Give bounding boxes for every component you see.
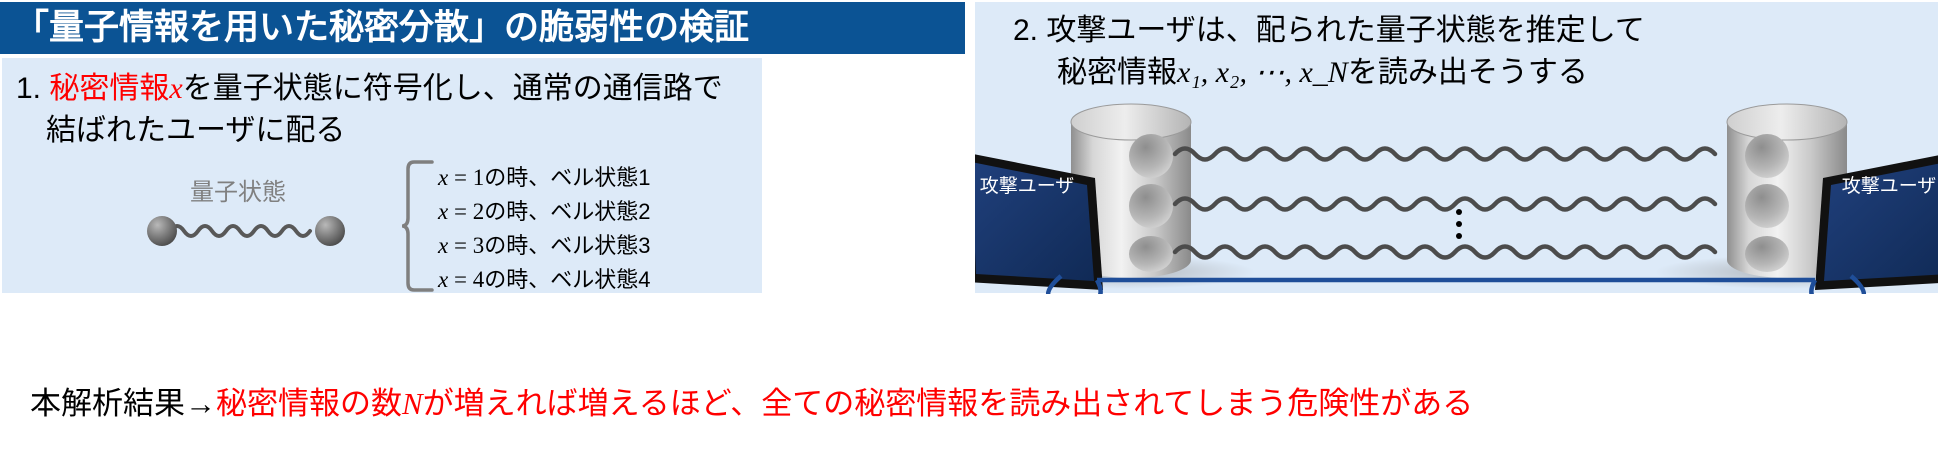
conclusion-highlight: 秘密情報の数 — [216, 386, 402, 421]
quantum-channel-1 — [1175, 149, 1715, 160]
conclusion-line: 本解析結果→秘密情報の数Nが増えれば増えるほど、全ての秘密情報を読み出されてしま… — [30, 378, 1473, 423]
monitor-right-label: 攻撃ユーザ — [1842, 175, 1937, 197]
conclusion-prefix: 本解析結果→ — [30, 386, 216, 421]
step2-line2-suffix: を読み出そうする — [1348, 56, 1588, 89]
port-left-3 — [1129, 236, 1173, 272]
bell-case-1-rhs: ベル状態1 — [550, 165, 650, 190]
quantum-state-label: 量子状態 — [190, 172, 286, 207]
step2-line1-text: 攻撃ユーザは、配られた量子状態を推定して — [1046, 14, 1645, 47]
bell-case-1-mid: の時、 — [484, 165, 550, 190]
step1-variable: x — [169, 72, 182, 105]
step2-line2-vars: x₁, x₂, ⋯, x_N — [1177, 56, 1348, 89]
bell-case-2-rhs: ベル状態2 — [550, 199, 650, 224]
slide-root: 「量子情報を用いた秘密分散」の脆弱性の検証 1. 秘密情報xを量子状態に符号化し… — [0, 0, 1940, 451]
port-left-2 — [1129, 184, 1173, 228]
bell-case-4-rhs: ベル状態4 — [550, 267, 650, 292]
bell-case-1: x = 1の時、ベル状態1 — [438, 160, 650, 192]
quantum-channel-3 — [1175, 247, 1715, 258]
bell-state-case-list: x = 1の時、ベル状態1 x = 2の時、ベル状態2 x = 3の時、ベル状態… — [402, 158, 752, 294]
bell-case-1-value: 1 — [473, 165, 485, 190]
port-left-1 — [1129, 134, 1173, 178]
step1-highlight: 秘密情報 — [49, 72, 169, 105]
bell-case-3-rhs: ベル状態3 — [550, 233, 650, 258]
bell-case-2-eq: = — [454, 199, 467, 224]
bell-case-3-lhs: x — [438, 233, 448, 258]
step1-panel: 1. 秘密情報xを量子状態に符号化し、通常の通信路で 結ばれたユーザに配る 量子… — [2, 58, 762, 293]
bell-case-1-eq: = — [454, 165, 467, 190]
entangled-pair-diagram — [142, 206, 352, 252]
conclusion-rest: が増えれば増えるほど、全ての秘密情報を読み出されてしまう危険性がある — [423, 386, 1474, 421]
vertical-ellipsis-icon — [1456, 209, 1462, 239]
monitor-left-label: 攻撃ユーザ — [980, 175, 1075, 197]
step1-line2: 結ばれたユーザに配る — [46, 110, 345, 152]
bell-case-2-lhs: x — [438, 199, 448, 224]
wave-line — [170, 226, 310, 236]
step1-number: 1. — [16, 72, 41, 105]
bell-case-2: x = 2の時、ベル状態2 — [438, 194, 650, 226]
bell-case-4: x = 4の時、ベル状態4 — [438, 262, 650, 294]
port-right-2 — [1745, 184, 1789, 228]
step2-number: 2. — [1013, 14, 1038, 47]
step2-line2: 秘密情報x₁, x₂, ⋯, x_Nを読み出そうする — [1057, 52, 1588, 94]
quantum-channel-group — [1175, 149, 1715, 258]
qubit-ball-right — [315, 216, 345, 246]
slide-title-bar: 「量子情報を用いた秘密分散」の脆弱性の検証 — [0, 2, 965, 54]
step1-line1-rest: を量子状態に符号化し、通常の通信路で — [183, 72, 723, 105]
bell-case-4-eq: = — [454, 267, 467, 292]
bell-case-3-mid: の時、 — [484, 233, 550, 258]
page-title: 「量子情報を用いた秘密分散」の脆弱性の検証 — [0, 2, 749, 54]
step2-panel: 2. 攻撃ユーザは、配られた量子状態を推定して 秘密情報x₁, x₂, ⋯, x… — [975, 2, 1938, 293]
bell-case-2-mid: の時、 — [484, 199, 550, 224]
bell-case-2-value: 2 — [473, 199, 485, 224]
bell-case-3-eq: = — [454, 233, 467, 258]
attack-network-diagram: 攻撃ユーザ 攻撃ユーザ — [975, 94, 1938, 294]
bell-case-3: x = 3の時、ベル状態3 — [438, 228, 650, 260]
step2-line2-prefix: 秘密情報 — [1057, 56, 1177, 89]
bell-case-4-mid: の時、 — [484, 267, 550, 292]
bell-case-4-value: 4 — [473, 267, 485, 292]
port-right-1 — [1745, 134, 1789, 178]
left-brace-icon — [402, 158, 436, 294]
bell-case-1-lhs: x — [438, 165, 448, 190]
quantum-channel-2 — [1175, 199, 1715, 210]
conclusion-variable: N — [402, 386, 423, 421]
bell-case-4-lhs: x — [438, 267, 448, 292]
bell-case-3-value: 3 — [473, 233, 485, 258]
step2-line1: 2. 攻撃ユーザは、配られた量子状態を推定して — [1013, 10, 1645, 52]
step1-line1: 1. 秘密情報xを量子状態に符号化し、通常の通信路で — [16, 68, 723, 110]
port-right-3 — [1745, 236, 1789, 272]
qubit-ball-left — [147, 216, 177, 246]
